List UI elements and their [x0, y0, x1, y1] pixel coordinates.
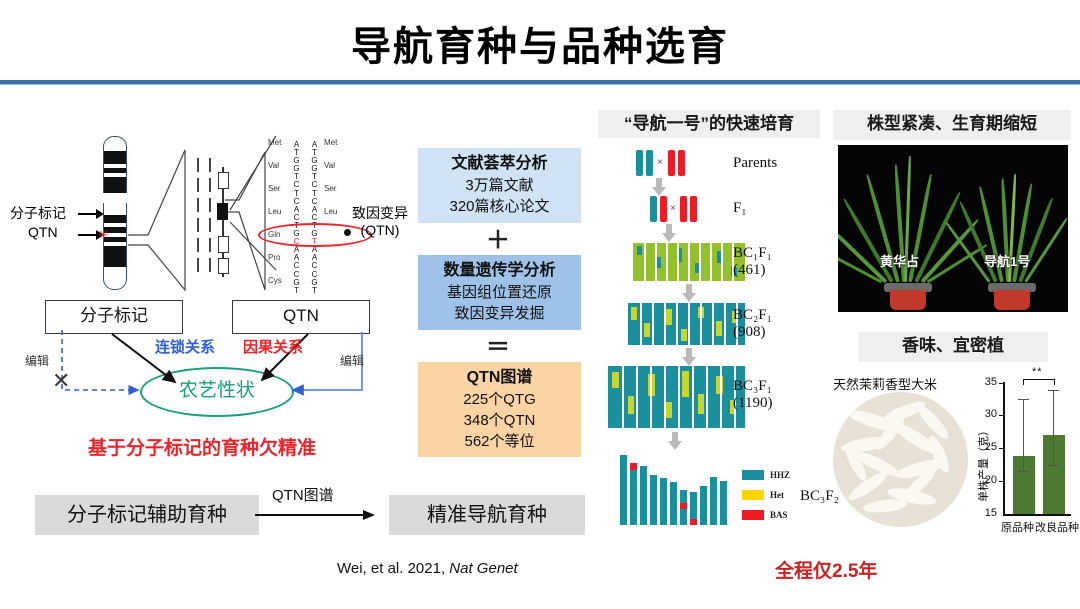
label-qtn: QTN [28, 224, 58, 240]
genotype-block-bc2f1 [628, 303, 745, 345]
analysis-box-2: 数量遗传学分析 基因组位置还原 致因变异发掘 [418, 255, 581, 330]
stage-label-f1: F₁ [733, 200, 747, 217]
y-axis-label: 单株产量（克） [975, 425, 991, 502]
breeding-pipeline-header: “导航一号”的快速培育 [598, 110, 820, 138]
plant-label-left: 黄华占 [880, 251, 919, 270]
operator-plus: ＋ [418, 220, 578, 255]
cross-symbol-f1: × [670, 203, 676, 214]
bar-original-variety [1013, 456, 1035, 514]
analysis-box-1: 文献荟萃分析 3万篇文献 320篇核心论文 [418, 148, 581, 223]
conclusion-text: 基于分子标记的育种欠精准 [88, 433, 316, 460]
box-molecular-marker: 分子标记 [45, 300, 183, 334]
causal-variant-line1: 致因变异 [352, 205, 408, 221]
y-tick-15: 15 [977, 507, 997, 519]
label-molecular-marker: 分子标记 [10, 203, 66, 223]
legend-label-het: Het [770, 490, 784, 500]
analysis-box-3-line3: 562个等位 [464, 433, 534, 450]
plant-photo-header: 株型紧凑、生育期缩短 [833, 110, 1071, 140]
legend-swatch-hhz [742, 470, 764, 480]
label-edit-left: 编辑 [25, 352, 49, 369]
flow-arrow [255, 508, 380, 524]
analysis-box-1-title: 文献荟萃分析 [418, 153, 581, 174]
dna-sequence-right: ATGGTCTCACTGTAACCGT [310, 141, 319, 295]
aroma-panel-header: 香味、宜密植 [858, 332, 1048, 362]
stage-label-bc3f2: BC₃F₂ [800, 488, 839, 505]
significance-marker: ** [1032, 366, 1043, 378]
bar-improved-variety [1043, 435, 1065, 514]
analysis-box-1-line2: 320篇核心论文 [449, 198, 549, 215]
cross-symbol-parents: × [657, 157, 663, 168]
stage-label-bc3f1: BC₃F₁ (1190) [733, 378, 772, 412]
causal-variant-line2: (QTN) [361, 222, 400, 238]
legend-swatch-bas [742, 510, 764, 520]
yield-bar-chart: 35 30 25 20 15 ** 原品种 改良品种 单株产量（克） [975, 374, 1075, 549]
analysis-box-2-line2: 致因变异发掘 [454, 305, 544, 322]
legend-label-hhz: HHZ [770, 470, 790, 480]
rice-photo-caption: 天然茉莉香型大米 [833, 374, 937, 393]
title-divider-thin [0, 84, 1080, 85]
pot-left [890, 290, 926, 310]
duration-note: 全程仅2.5年 [775, 556, 877, 583]
plant-photo: 黄华占 导航1号 [838, 145, 1068, 312]
label-causal-variant: 致因变异 (QTN) [345, 205, 415, 239]
analysis-box-3-line1: 225个QTG [463, 391, 536, 408]
flow-arrow-label: QTN图谱 [272, 484, 334, 505]
analysis-box-2-title: 数量遗传学分析 [418, 260, 581, 281]
flow-from-box: 分子标记辅助育种 [35, 495, 259, 535]
analysis-box-3-title: QTN图谱 [418, 367, 581, 388]
stage-label-bc1f1: BC₁F₁ (461) [733, 245, 772, 279]
label-causal-relation: 因果关系 [243, 336, 303, 357]
box-qtn: QTN [232, 300, 370, 334]
genotype-block-bc3f1 [608, 366, 745, 428]
page-title: 导航育种与品种选育 [0, 14, 1080, 72]
analysis-box-3: QTN图谱 225个QTG 348个QTN 562个等位 [418, 362, 581, 457]
y-tick-35: 35 [977, 376, 997, 388]
x-category-improved: 改良品种 [1035, 519, 1079, 535]
legend-label-bas: BAS [770, 510, 788, 520]
legend-swatch-het [742, 490, 764, 500]
x-category-original: 原品种 [1001, 519, 1034, 535]
dna-sequence-left: ATGGTCTCACTGCAACCGT [292, 141, 301, 295]
operator-equals: ＝ [418, 327, 578, 362]
stage-label-parents: Parents [733, 155, 777, 172]
citation-journal: Nat Genet [449, 560, 517, 577]
analysis-box-1-line1: 3万篇文献 [465, 177, 533, 194]
citation-authors: Wei, et al. 2021, [337, 560, 449, 577]
stage-label-bc2f1: BC₂F₁ (908) [733, 307, 772, 341]
genotype-block-bc1f1 [633, 243, 745, 281]
flow-to-box: 精准导航育种 [389, 495, 585, 535]
rice-grain-photo [833, 392, 968, 527]
qtn-star-marker: ✳ [98, 227, 109, 243]
y-tick-30: 30 [977, 408, 997, 420]
analysis-box-3-line2: 348个QTN [464, 412, 536, 429]
label-linkage-relation: 连锁关系 [155, 336, 215, 357]
label-edit-right: 编辑 [340, 352, 364, 369]
citation: Wei, et al. 2021, Nat Genet [337, 560, 518, 577]
edit-blocked-x: ✕ [52, 368, 70, 394]
pot-right [994, 290, 1030, 310]
analysis-box-2-line1: 基因组位置还原 [447, 284, 552, 301]
plant-label-right: 导航1号 [984, 251, 1030, 270]
slide-root: 导航育种与品种选育 分子标记 QTN ✳ [0, 0, 1080, 609]
